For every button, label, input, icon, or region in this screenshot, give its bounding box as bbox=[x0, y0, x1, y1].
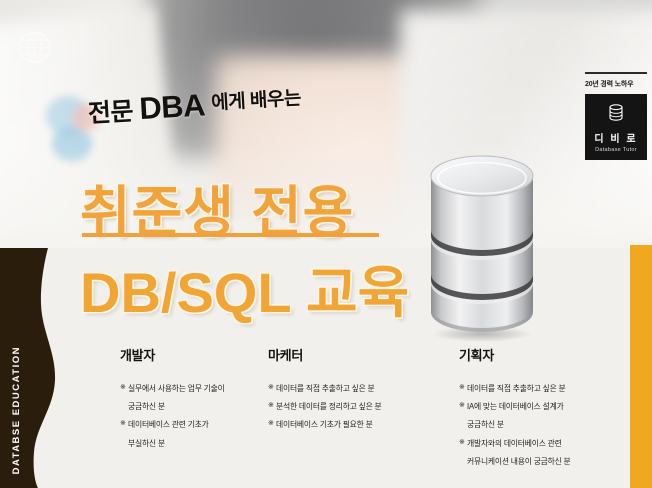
column-bullet-list: ※데이터를 직접 추출하고 싶은 분 ※IA에 맞는 데이터베이스 설계가 궁금… bbox=[459, 381, 614, 469]
column-title: 개발자 bbox=[120, 345, 234, 364]
bullet-text: IA에 맞는 데이터베이스 설계가 bbox=[467, 402, 564, 411]
logo-tagline: 20년 경력 노하우 bbox=[585, 79, 647, 89]
list-item: ※실무에서 사용하는 업무 기술이 bbox=[120, 381, 234, 396]
list-item: ※데이터를 직접 추출하고 싶은 분 bbox=[459, 381, 614, 396]
bullet-text: 데이터베이스 관련 기초가 bbox=[128, 420, 209, 429]
bullet-text: 데이터베이스 기초가 필요한 분 bbox=[276, 420, 373, 429]
left-sidebar: DATABSE EDUCATION bbox=[0, 248, 62, 488]
list-item: ※데이터를 직접 추출하고 싶은 분 bbox=[268, 381, 414, 396]
column-bullet-list: ※실무에서 사용하는 업무 기술이 궁금하신 분 ※데이터베이스 관련 기초가 … bbox=[120, 381, 234, 451]
list-item: ※데이터베이스 관련 기초가 bbox=[120, 417, 234, 432]
bullet-text: 데이터를 직접 추출하고 싶은 분 bbox=[276, 384, 375, 393]
banner-canvas: DATABSE EDUCATION 전문 DBA 에게 배우는 취준생 전용 D… bbox=[0, 0, 652, 488]
bullet-mark: ※ bbox=[120, 417, 126, 431]
bullet-mark: ※ bbox=[459, 399, 465, 413]
bullet-text: 궁금하신 분 bbox=[467, 420, 504, 429]
bullet-mark: ※ bbox=[268, 381, 274, 395]
bullet-text: 데이터를 직접 추출하고 싶은 분 bbox=[467, 384, 566, 393]
audience-column-developer: 개발자 ※실무에서 사용하는 업무 기술이 궁금하신 분 ※데이터베이스 관련 … bbox=[62, 345, 234, 485]
list-item: ※IA에 맞는 데이터베이스 설계가 bbox=[459, 399, 614, 414]
list-item: ※분석한 데이터를 정리하고 싶은 분 bbox=[268, 399, 414, 414]
headline-underline bbox=[82, 233, 379, 237]
list-item: 부실하신 분 bbox=[120, 436, 234, 451]
bullet-mark: ※ bbox=[120, 381, 126, 395]
list-item: 궁금하신 분 bbox=[459, 417, 614, 432]
bullet-text: 개발자와의 데이터베이스 관련 bbox=[467, 439, 562, 448]
bullet-mark: ※ bbox=[459, 381, 465, 395]
sidebar-vertical-label: DATABSE EDUCATION bbox=[11, 346, 22, 474]
list-item: ※데이터베이스 기초가 필요한 분 bbox=[268, 417, 414, 432]
bullet-mark: ※ bbox=[459, 436, 465, 450]
database-cylinder-3d-icon bbox=[418, 152, 546, 342]
globe-watermark-icon bbox=[18, 31, 51, 64]
bullet-text: 실무에서 사용하는 업무 기술이 bbox=[128, 384, 225, 393]
bullet-text: 분석한 데이터를 정리하고 싶은 분 bbox=[276, 402, 382, 411]
column-bullet-list: ※데이터를 직접 추출하고 싶은 분 ※분석한 데이터를 정리하고 싶은 분 ※… bbox=[268, 381, 414, 433]
list-item: ※개발자와의 데이터베이스 관련 bbox=[459, 436, 614, 451]
bullet-text: 부실하신 분 bbox=[128, 439, 165, 448]
right-accent-bar bbox=[630, 245, 652, 488]
logo-divider-rule bbox=[585, 72, 647, 74]
bullet-mark: ※ bbox=[268, 417, 274, 431]
kicker-lead: 전문 bbox=[87, 98, 134, 128]
logo-block: 20년 경력 노하우 디 비 로 Database Tutor bbox=[585, 72, 647, 160]
logo-card: 디 비 로 Database Tutor bbox=[585, 94, 647, 160]
bullet-text: 커뮤니케이션 내용이 궁금하신 분 bbox=[467, 457, 571, 466]
audience-column-planner: 기획자 ※데이터를 직접 추출하고 싶은 분 ※IA에 맞는 데이터베이스 설계… bbox=[414, 345, 614, 485]
list-item: 커뮤니케이션 내용이 궁금하신 분 bbox=[459, 454, 614, 469]
list-item: 궁금하신 분 bbox=[120, 399, 234, 414]
column-title: 마케터 bbox=[268, 345, 414, 364]
bullet-text: 궁금하신 분 bbox=[128, 402, 165, 411]
headline-line-2: DB/SQL 교육 bbox=[80, 248, 409, 329]
audience-column-marketer: 마케터 ※데이터를 직접 추출하고 싶은 분 ※분석한 데이터를 정리하고 싶은… bbox=[234, 345, 414, 485]
column-title: 기획자 bbox=[459, 345, 614, 364]
kicker-brand: DBA bbox=[138, 87, 206, 126]
database-stack-icon bbox=[608, 104, 624, 126]
logo-subtitle: Database Tutor bbox=[595, 147, 637, 153]
bullet-mark: ※ bbox=[268, 399, 274, 413]
kicker-tail: 에게 배우는 bbox=[211, 88, 302, 114]
audience-columns: 개발자 ※실무에서 사용하는 업무 기술이 궁금하신 분 ※데이터베이스 관련 … bbox=[62, 345, 630, 485]
logo-name: 디 비 로 bbox=[594, 130, 637, 145]
